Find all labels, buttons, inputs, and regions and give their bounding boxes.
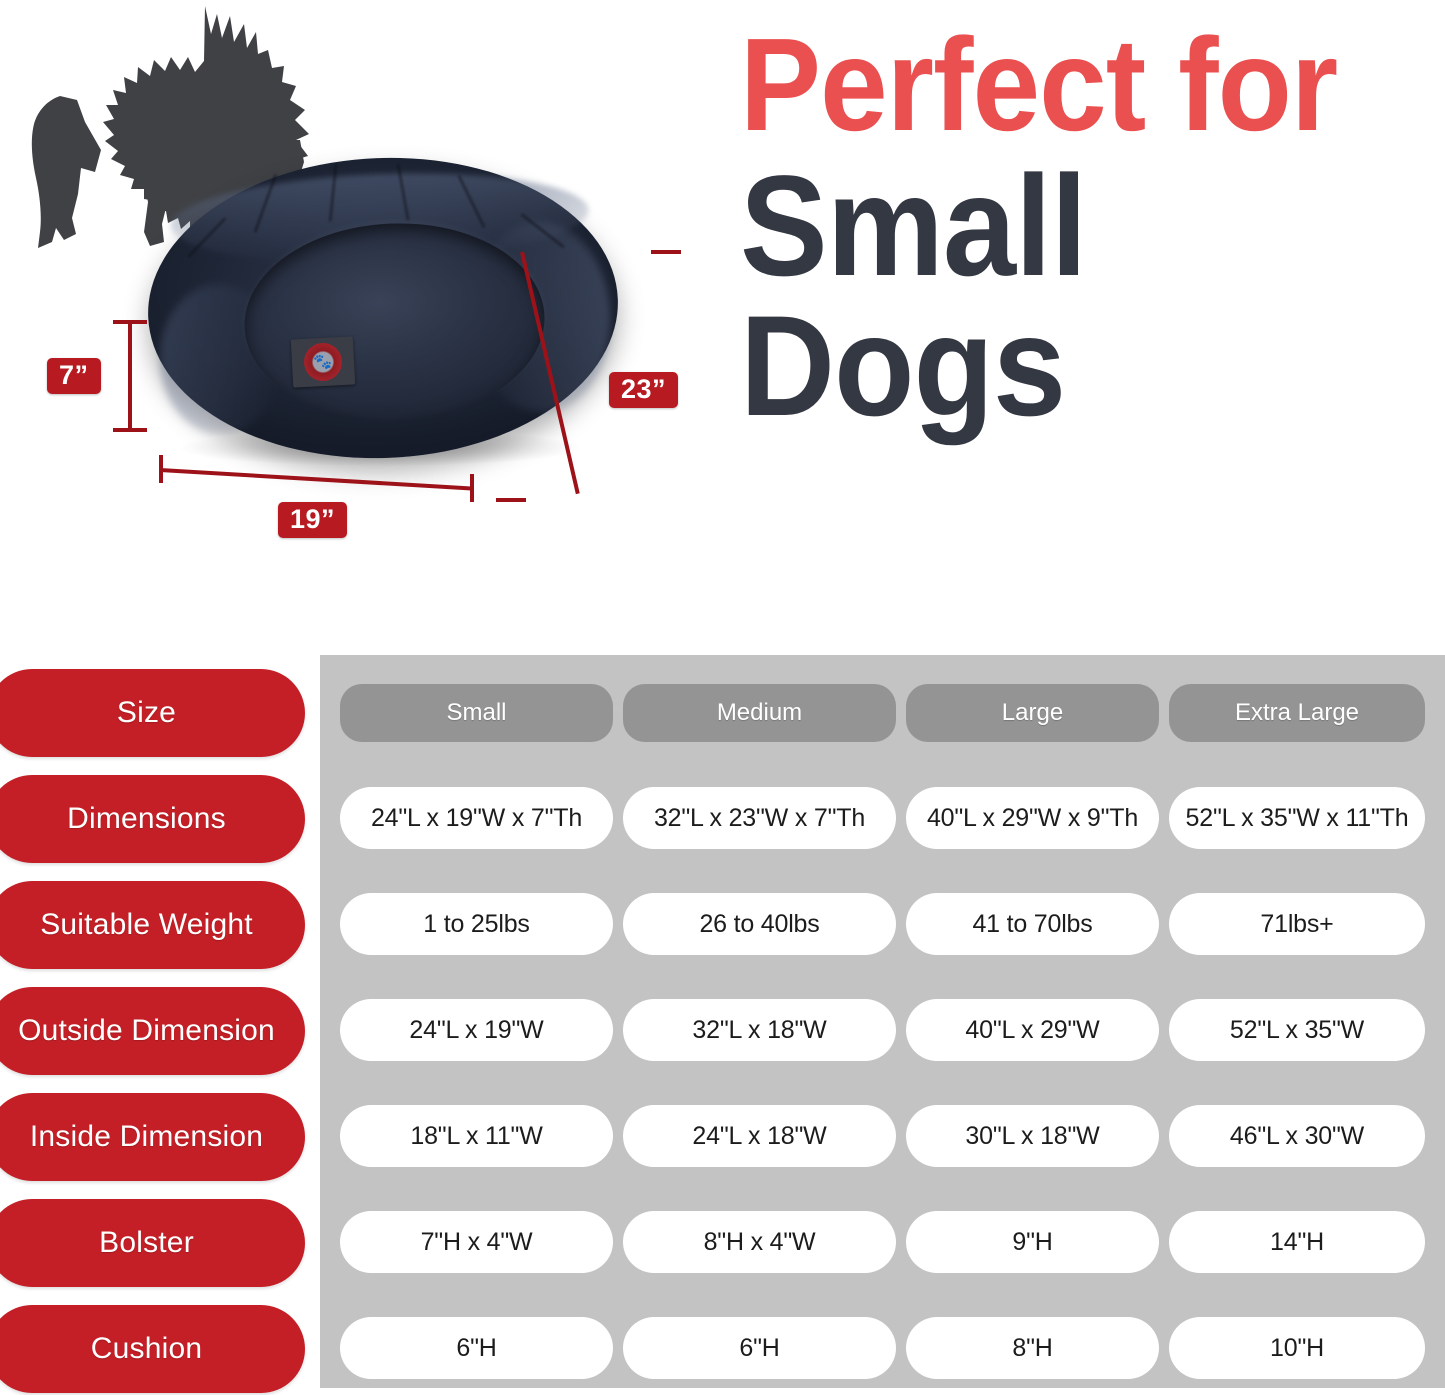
column-header-small: Small <box>340 684 613 742</box>
cell-bolster-large: 9"H <box>906 1211 1159 1273</box>
row-label-inside-dimension: Inside Dimension <box>0 1093 305 1181</box>
page-title: Perfect for Small Dogs <box>740 28 1384 429</box>
row-label-suitable-weight: Suitable Weight <box>0 881 305 969</box>
width-dimension-cap-right <box>470 474 474 502</box>
length-dimension-cap-top <box>651 250 681 254</box>
cell-outside-extra-large: 52"L x 35"W <box>1169 999 1425 1061</box>
cell-dimensions-small: 24"L x 19"W x 7"Th <box>340 787 613 849</box>
cell-dimensions-extra-large: 52"L x 35"W x 11"Th <box>1169 787 1425 849</box>
cell-weight-small: 1 to 25lbs <box>340 893 613 955</box>
column-header-medium: Medium <box>623 684 896 742</box>
cell-cushion-small: 6"H <box>340 1317 613 1379</box>
spec-table: Size Dimensions Suitable Weight Outside … <box>0 655 1445 1395</box>
infographic-page: 🐾 7” 19” 23” Perfect for Small Dogs S <box>0 0 1445 1395</box>
column-header-large: Large <box>906 684 1159 742</box>
row-label-cushion: Cushion <box>0 1305 305 1393</box>
row-label-outside-dimension: Outside Dimension <box>0 987 305 1075</box>
product-image-dog-bed: 🐾 <box>140 130 630 480</box>
column-header-extra-large: Extra Large <box>1169 684 1425 742</box>
cell-weight-extra-large: 71lbs+ <box>1169 893 1425 955</box>
cell-inside-medium: 24"L x 18"W <box>623 1105 896 1167</box>
height-dimension-cap-top <box>113 320 147 324</box>
height-dimension-line <box>128 320 132 432</box>
cell-cushion-large: 8"H <box>906 1317 1159 1379</box>
row-label-size: Size <box>0 669 305 757</box>
height-dimension-cap-bottom <box>113 428 147 432</box>
cell-bolster-small: 7"H x 4"W <box>340 1211 613 1273</box>
callout-height-badge: 7” <box>47 358 101 394</box>
callout-width-badge: 19” <box>278 502 347 538</box>
headline-line-2: Small <box>740 166 1384 289</box>
cell-outside-large: 40"L x 29"W <box>906 999 1159 1061</box>
headline-line-1: Perfect for <box>740 28 1384 142</box>
callout-length-badge: 23” <box>609 372 678 408</box>
cell-inside-extra-large: 46"L x 30"W <box>1169 1105 1425 1167</box>
spec-table-row-labels: Size Dimensions Suitable Weight Outside … <box>0 655 320 1388</box>
cell-outside-medium: 32"L x 18"W <box>623 999 896 1061</box>
cell-weight-large: 41 to 70lbs <box>906 893 1159 955</box>
cell-bolster-medium: 8"H x 4"W <box>623 1211 896 1273</box>
cell-weight-medium: 26 to 40lbs <box>623 893 896 955</box>
cell-outside-small: 24"L x 19"W <box>340 999 613 1061</box>
row-label-bolster: Bolster <box>0 1199 305 1287</box>
spec-table-cells: Small Medium Large Extra Large 24"L x 19… <box>320 655 1445 1388</box>
row-label-dimensions: Dimensions <box>0 775 305 863</box>
cell-dimensions-medium: 32"L x 23"W x 7"Th <box>623 787 896 849</box>
cell-inside-large: 30"L x 18"W <box>906 1105 1159 1167</box>
cell-cushion-medium: 6"H <box>623 1317 896 1379</box>
cell-dimensions-large: 40"L x 29"W x 9"Th <box>906 787 1159 849</box>
cell-cushion-extra-large: 10"H <box>1169 1317 1425 1379</box>
width-dimension-cap-left <box>159 455 163 483</box>
hero-section: 🐾 7” 19” 23” Perfect for Small Dogs <box>0 0 1445 640</box>
paw-print-icon: 🐾 <box>313 354 332 370</box>
brand-tag: 🐾 <box>291 336 355 387</box>
cell-inside-small: 18"L x 11"W <box>340 1105 613 1167</box>
length-dimension-cap-bottom <box>496 498 526 502</box>
bed-bolster <box>142 149 623 467</box>
headline-line-3: Dogs <box>740 306 1384 429</box>
majestic-pet-logo-icon: 🐾 <box>303 342 343 382</box>
cell-bolster-extra-large: 14"H <box>1169 1211 1425 1273</box>
